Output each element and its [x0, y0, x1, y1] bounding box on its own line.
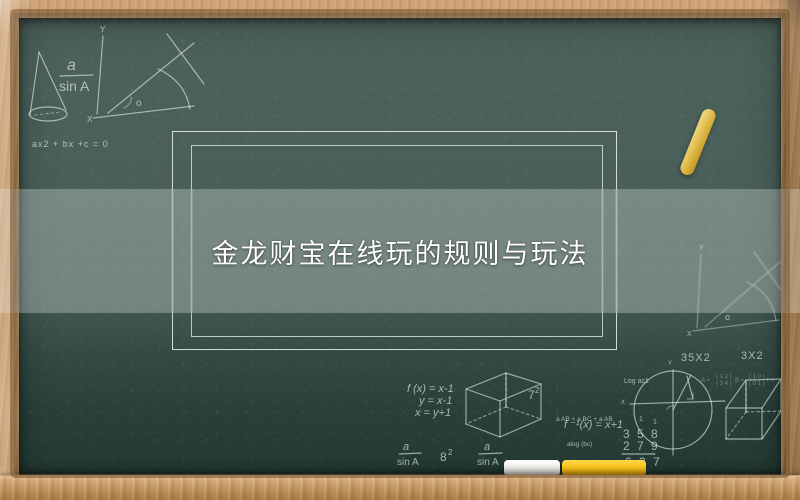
chalkboard-banner: a sin A Y X o ax2 + bx +c = 0 Y X [0, 0, 800, 500]
chalk-tray [0, 476, 800, 500]
frame-bevel [14, 13, 786, 474]
